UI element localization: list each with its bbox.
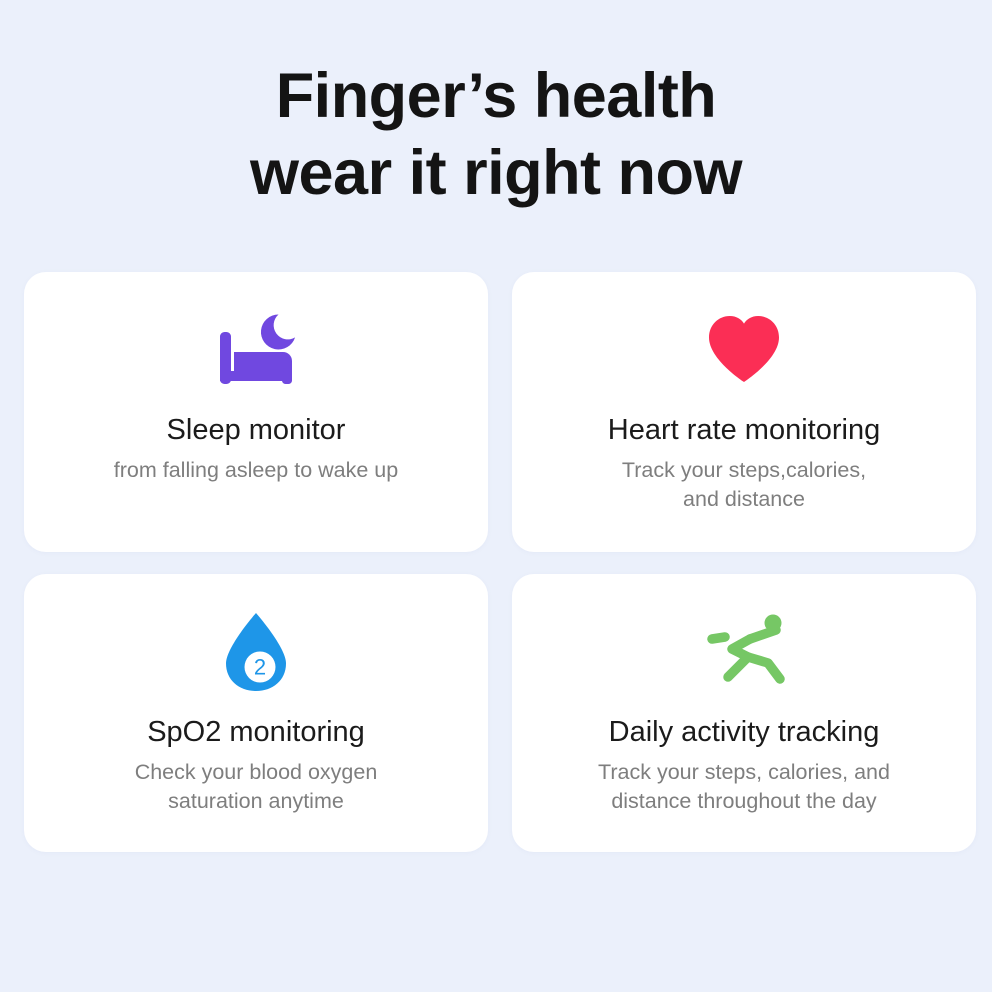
card-title: Sleep monitor <box>167 414 346 447</box>
drop-badge-number: 2 <box>254 654 266 679</box>
heart-icon <box>704 302 784 398</box>
bed-moon-icon <box>208 302 304 398</box>
card-subtitle: Track your steps, calories, and distance… <box>598 758 890 815</box>
feature-card-spo2-monitoring[interactable]: 2 SpO2 monitoring Check your blood oxyge… <box>24 574 488 852</box>
headline-line-2: wear it right now <box>0 135 992 212</box>
headline-line-1: Finger’s health <box>0 58 992 135</box>
promo-poster: Finger’s health wear it right now <box>0 0 992 992</box>
card-title: SpO2 monitoring <box>147 716 365 749</box>
feature-card-heart-rate-monitoring[interactable]: Heart rate monitoring Track your steps,c… <box>512 272 976 552</box>
feature-card-grid: Sleep monitor from falling asleep to wak… <box>24 272 968 852</box>
card-subtitle: Check your blood oxygen saturation anyti… <box>135 758 378 815</box>
card-subtitle: Track your steps,calories, and distance <box>622 456 866 513</box>
feature-card-daily-activity-tracking[interactable]: Daily activity tracking Track your steps… <box>512 574 976 852</box>
water-drop-o2-icon: 2 <box>218 604 294 700</box>
running-person-icon <box>698 604 790 700</box>
card-title: Heart rate monitoring <box>608 414 880 447</box>
feature-card-sleep-monitor[interactable]: Sleep monitor from falling asleep to wak… <box>24 272 488 552</box>
page-title: Finger’s health wear it right now <box>0 58 992 213</box>
card-title: Daily activity tracking <box>609 716 880 749</box>
card-subtitle: from falling asleep to wake up <box>114 456 398 485</box>
